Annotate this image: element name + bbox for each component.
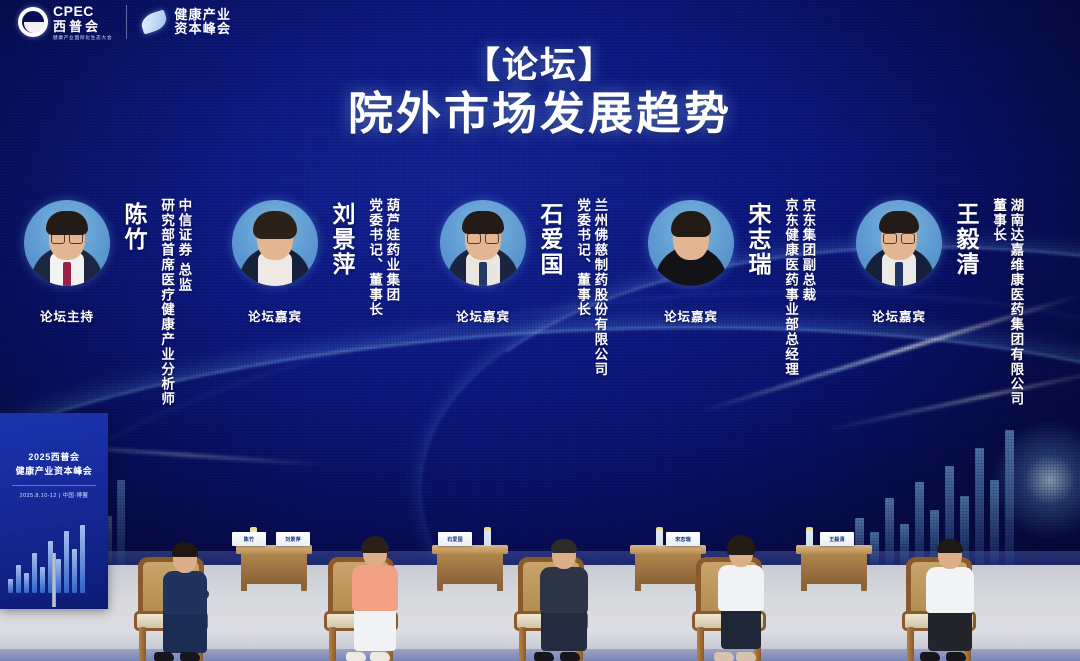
speaker-org-line2: 党委书记、董事长 [575,198,589,377]
speaker-name: 陈竹 [117,202,151,252]
panelist [340,537,410,661]
speaker-role: 论坛嘉宾 [648,306,734,325]
speaker-card: 论坛嘉宾 刘景萍 葫芦娃药业集团 党委书记、董事长 [232,186,440,407]
speaker-role: 论坛嘉宾 [856,306,942,325]
panel-stage-area: 2025西普会 健康产业资本峰会 2025.8.10-12 | 中国·博鳌 [0,404,1080,661]
avatar [856,200,942,286]
speaker-role: 论坛嘉宾 [440,306,526,325]
speaker-org-line1: 湖南达嘉维康医药集团有限公司 [1008,198,1022,407]
name-card: 刘景萍 [276,532,310,546]
side-table: 石爱国 [432,545,508,591]
avatar [648,200,734,286]
forum-title-line1: 【论坛】 [0,44,1080,85]
summit-logo-line1: 健康产业 [174,8,231,23]
speaker-org: 兰州佛慈制药股份有限公司 党委书记、董事长 [572,198,606,377]
event-logos: CPEC 西普会 健康产业国际化生态大会 健康产业 资本峰会 [18,4,231,41]
name-card: 石爱国 [438,532,472,546]
speaker-name: 王毅清 [949,202,983,277]
speaker-name: 石爱国 [533,202,567,277]
cpec-logo: CPEC 西普会 健康产业国际化生态大会 [18,4,112,41]
conference-stage-photo: CPEC 西普会 健康产业国际化生态大会 健康产业 资本峰会 【论坛】 院外市场… [0,0,1080,661]
speaker-org-line2: 董事长 [991,198,1005,407]
summit-logo-text: 健康产业 资本峰会 [174,8,231,37]
avatar [440,200,526,286]
name-card-label: 石爱国 [447,536,463,543]
speaker-org-line1: 中信证券 总监 [176,198,190,407]
banner-title-line2: 健康产业资本峰会 [0,465,108,479]
panelist [914,539,986,661]
forum-title: 【论坛】 院外市场发展趋势 [0,44,1080,141]
cpec-logo-sub: 健康产业国际化生态大会 [53,36,112,41]
speaker-card: 论坛嘉宾 石爱国 兰州佛慈制药股份有限公司 党委书记、董事长 [440,186,648,407]
speaker-org-line1: 兰州佛慈制药股份有限公司 [592,198,606,377]
speaker-org: 京东集团副总裁 京东健康医药事业部总经理 [780,198,814,377]
logo-divider [126,5,127,39]
name-card-label: 王毅清 [829,536,845,543]
speaker-org-line2: 党委书记、董事长 [367,198,381,317]
speaker-list: 论坛主持 陈竹 中信证券 总监 研究部首席医疗健康产业分析师 论坛嘉宾 刘景萍 … [24,186,1064,407]
speaker-card: 论坛嘉宾 宋志瑞 京东集团副总裁 京东健康医药事业部总经理 [648,186,856,407]
speaker-org-line1: 京东集团副总裁 [800,198,814,377]
speaker-org-line2: 京东健康医药事业部总经理 [783,198,797,377]
speaker-org: 葫芦娃药业集团 党委书记、董事长 [364,198,398,317]
speaker-org: 中信证券 总监 研究部首席医疗健康产业分析师 [156,198,190,407]
banner-rule [12,485,96,486]
cpec-logo-cn: 西普会 [53,20,112,33]
panelist [150,541,220,661]
speaker-role: 论坛主持 [24,306,110,325]
name-card-label: 陈竹 [244,536,254,543]
side-table: 王毅清 [796,545,872,591]
speaker-org-line1: 葫芦娃药业集团 [384,198,398,317]
leaf-icon [139,10,169,35]
banner-title: 2025西普会 健康产业资本峰会 [0,451,108,478]
name-card: 陈竹 [232,532,266,546]
panelist [706,537,776,661]
panelist [528,539,600,661]
water-bottle [484,527,491,546]
banner-date: 2025.8.10-12 | 中国·博鳌 [0,491,108,499]
avatar [24,200,110,286]
summit-logo: 健康产业 资本峰会 [141,8,231,37]
speaker-org: 湖南达嘉维康医药集团有限公司 董事长 [988,198,1022,407]
water-bottle [806,527,813,546]
name-card: 宋志瑞 [666,532,700,546]
banner-title-line1: 2025西普会 [0,451,108,465]
cpec-logo-en: CPEC [53,4,112,18]
name-card: 王毅清 [820,532,854,546]
avatar [232,200,318,286]
name-card-label: 刘景萍 [285,536,301,543]
speaker-name: 刘景萍 [325,202,359,277]
banner-pole [52,553,56,607]
speaker-card: 论坛嘉宾 王毅清 湖南达嘉维康医药集团有限公司 董事长 [856,186,1064,407]
speaker-card: 论坛主持 陈竹 中信证券 总监 研究部首席医疗健康产业分析师 [24,186,232,407]
speaker-org-line2: 研究部首席医疗健康产业分析师 [159,198,173,407]
side-table: 陈竹 刘景萍 [236,545,312,591]
cpec-logo-text: CPEC 西普会 健康产业国际化生态大会 [53,4,112,41]
speaker-name: 宋志瑞 [741,202,775,277]
speaker-role: 论坛嘉宾 [232,306,318,325]
cpec-ring-icon [18,7,48,37]
summit-logo-line2: 资本峰会 [174,22,231,37]
forum-title-line2: 院外市场发展趋势 [0,87,1080,141]
name-card-label: 宋志瑞 [675,536,691,543]
water-bottle [656,527,663,546]
